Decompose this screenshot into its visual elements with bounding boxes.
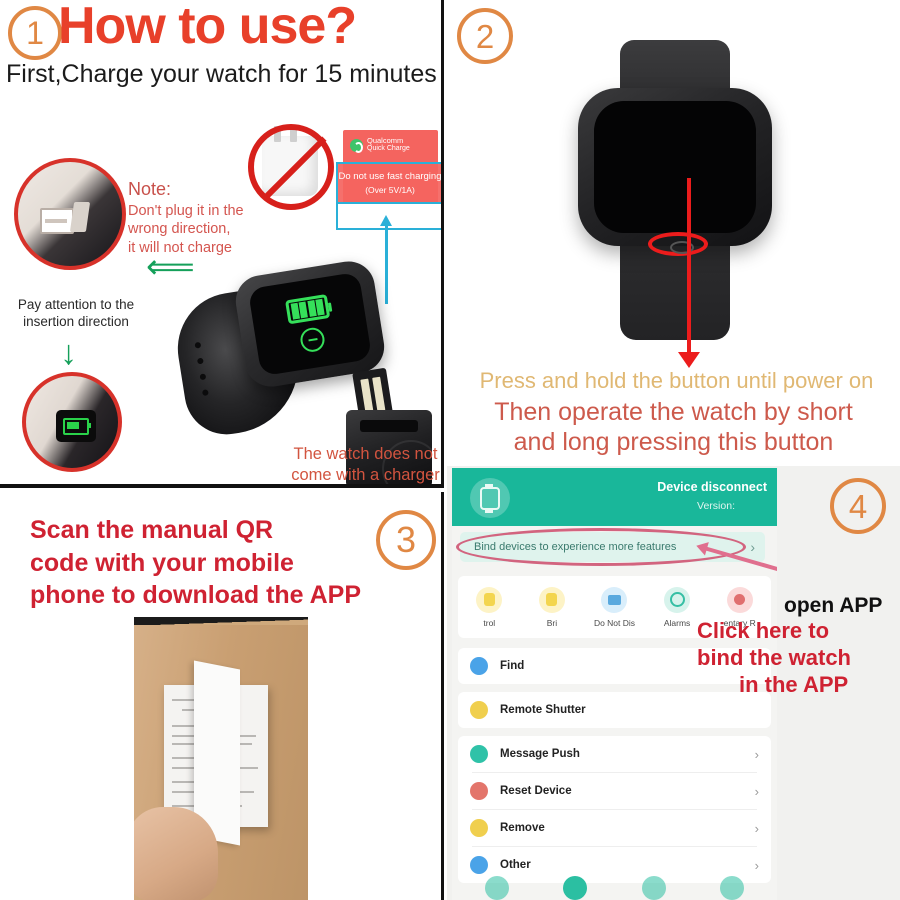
- watch-case: [578, 88, 772, 246]
- annotation-line-3: in the APP: [697, 672, 848, 699]
- open-app-annotation: open APP: [784, 594, 882, 618]
- operate-watch-line-1: Then operate the watch by short: [452, 398, 895, 427]
- press-hold-instruction: Press and hold the button until power on: [455, 368, 898, 394]
- no-charger-included-note: The watch does not come with a charger: [283, 444, 444, 486]
- menu-item-label: Find: [500, 660, 524, 672]
- panel-step-3: 3 Scan the manual QR code with your mobi…: [0, 492, 444, 900]
- annotation-line-2: bind the watch: [697, 645, 851, 670]
- green-battery-icon: [285, 294, 330, 324]
- tab-item[interactable]: [458, 876, 536, 900]
- menu-item-label: Reset Device: [500, 785, 572, 797]
- note-line-1: Don't plug it in the: [128, 203, 244, 219]
- operate-watch-line-2: and long pressing this button: [452, 428, 895, 457]
- panel-step-1: 1 How to use? First,Charge your watch fo…: [0, 0, 444, 488]
- hand-holding-manual: [134, 807, 218, 900]
- instruction-sheet: 1 How to use? First,Charge your watch fo…: [0, 0, 900, 900]
- menu-card-settings: Message Push › Reset Device › Remove ›: [458, 736, 771, 883]
- manual-photo: [134, 617, 308, 900]
- scan-qr-instruction: Scan the manual QR code with your mobile…: [30, 514, 361, 612]
- arrow-down-green-icon: ↓: [60, 336, 77, 370]
- sedentary-reminder-icon: [727, 587, 753, 613]
- qualcomm-logo-icon: [350, 139, 363, 152]
- menu-item-reset-device[interactable]: Reset Device ›: [458, 773, 771, 809]
- step-number-1-text: 1: [26, 17, 44, 49]
- quick-action-label: Bri: [547, 618, 557, 628]
- step-number-3-text: 3: [396, 522, 416, 558]
- note-label: Note:: [128, 178, 244, 201]
- chevron-right-icon: ›: [755, 747, 759, 762]
- quick-action-label: Alarms: [664, 618, 690, 628]
- battery-icon: [63, 418, 89, 435]
- send-icon: [470, 745, 488, 763]
- power-button-highlight: [648, 232, 708, 256]
- step-number-1-badge: 1: [8, 6, 62, 60]
- watch-display-charging: [248, 272, 372, 376]
- version-label: Version:: [697, 500, 735, 512]
- insertion-caption-line-2: insertion direction: [23, 314, 129, 329]
- chevron-right-icon: ›: [755, 784, 759, 799]
- charge-subtitle: First,Charge your watch for 15 minutes: [6, 60, 437, 89]
- unlink-icon: [470, 819, 488, 837]
- chevron-right-icon: ›: [755, 821, 759, 836]
- do-not-disturb-icon: [601, 587, 627, 613]
- no-fast-charge-line-1: Do not use fast charging: [339, 171, 442, 182]
- dock-slot: [360, 420, 418, 432]
- chevron-right-icon: ›: [750, 539, 755, 555]
- step-number-3-badge: 3: [376, 510, 436, 570]
- red-pointer-arrow-icon: [687, 178, 691, 354]
- watch-usb-blade: [70, 202, 90, 232]
- quick-action-label: Do Not Dis: [594, 618, 635, 628]
- app-bottom-tab-bar: [458, 868, 771, 900]
- note-line-2: wrong direction,: [128, 221, 230, 237]
- watch-avatar-icon: [470, 478, 510, 518]
- watch-screen-battery: [56, 410, 96, 442]
- smartwatch-front-photo: [560, 40, 790, 340]
- wall-charger-photo: [246, 122, 334, 210]
- tab-item[interactable]: [693, 876, 771, 900]
- quick-action-item[interactable]: Do Not Dis: [583, 587, 646, 628]
- quick-action-label: trol: [483, 618, 495, 628]
- insertion-direction-caption: Pay attention to the insertion direction: [10, 296, 142, 330]
- reset-icon: [470, 782, 488, 800]
- no-fast-charge-line-2: (Over 5V/1A): [365, 185, 415, 195]
- menu-item-remove[interactable]: Remove ›: [458, 810, 771, 846]
- camera-icon: [470, 701, 488, 719]
- charging-indicator-icon: [299, 326, 326, 353]
- scan-qr-line-1: Scan the manual QR: [30, 516, 273, 544]
- tab-item[interactable]: [615, 876, 693, 900]
- insertion-caption-line-1: Pay attention to the: [18, 297, 134, 312]
- qualcomm-subbrand: Quick Charge: [367, 145, 410, 152]
- page-title: How to use?: [58, 0, 356, 56]
- step-number-2-badge: 2: [457, 8, 513, 64]
- annotation-line-1: Click here to: [697, 618, 829, 643]
- step-number-4-badge: 4: [830, 478, 886, 534]
- step-number-4-text: 4: [849, 490, 867, 523]
- tab-icon: [563, 876, 587, 900]
- menu-item-label: Message Push: [500, 748, 580, 760]
- find-icon: [470, 657, 488, 675]
- usb-port-shape: [40, 208, 74, 234]
- tab-icon: [485, 876, 509, 900]
- quick-action-item[interactable]: Bri: [521, 587, 584, 628]
- usb-port-closeup-photo: [14, 158, 126, 270]
- no-charger-line-1: The watch does not: [293, 445, 437, 463]
- qualcomm-brand: Qualcomm: [367, 136, 410, 145]
- wrong-direction-note: Note: Don't plug it in the wrong directi…: [128, 178, 244, 257]
- watch-screen-off: [594, 101, 756, 233]
- no-fast-charge-callout: Do not use fast charging (Over 5V/1A): [336, 162, 444, 204]
- tab-icon: [642, 876, 666, 900]
- scan-qr-line-3: phone to download the APP: [30, 581, 361, 609]
- menu-item-message-push[interactable]: Message Push ›: [458, 736, 771, 772]
- alarms-icon: [664, 587, 690, 613]
- app-header: Device disconnect Version:: [452, 468, 777, 526]
- brightness-icon: [539, 587, 565, 613]
- quick-action-item[interactable]: trol: [458, 587, 521, 628]
- qualcomm-text: Qualcomm Quick Charge: [367, 136, 410, 154]
- click-to-bind-annotation: Click here to bind the watch in the APP: [697, 618, 851, 698]
- scan-qr-line-2: code with your mobile: [30, 549, 294, 577]
- device-status-text: Device disconnect: [657, 480, 767, 494]
- qualcomm-badge: Qualcomm Quick Charge: [350, 136, 410, 154]
- no-charger-line-2: come with a charger: [291, 466, 440, 484]
- tab-icon: [720, 876, 744, 900]
- watch-charging-closeup-photo: [22, 372, 122, 472]
- menu-item-label: Remote Shutter: [500, 704, 586, 716]
- step-number-2-text: 2: [476, 20, 494, 53]
- fast-charger-warning: Qualcomm Quick Charge Do not use fast ch…: [240, 118, 440, 228]
- menu-item-label: Remove: [500, 822, 545, 834]
- prohibition-icon: [248, 124, 334, 210]
- control-icon: [476, 587, 502, 613]
- tab-item[interactable]: [536, 876, 614, 900]
